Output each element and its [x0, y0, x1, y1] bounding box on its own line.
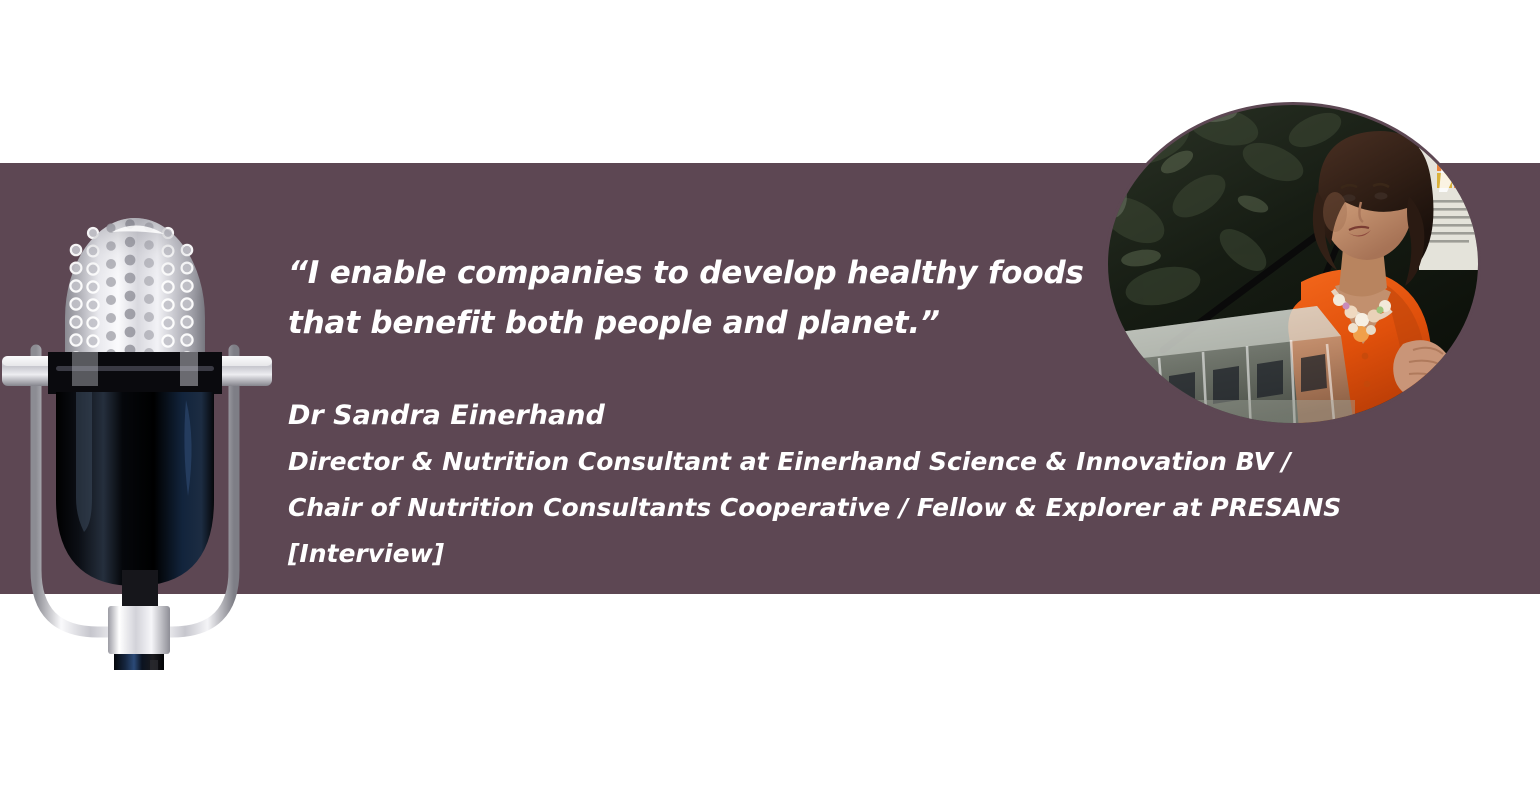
attribution: Dr Sandra Einerhand Director & Nutrition…	[288, 392, 1388, 577]
interview-tag: [Interview]	[288, 531, 1388, 577]
speaker-name: Dr Sandra Einerhand	[288, 392, 1388, 439]
retro-microphone-icon	[0, 100, 290, 670]
speaker-role-line-1: Director & Nutrition Consultant at Einer…	[288, 439, 1388, 485]
banner-text-block: “I enable companies to develop healthy f…	[288, 248, 1388, 577]
quote: “I enable companies to develop healthy f…	[288, 248, 1388, 348]
quote-line-1: “I enable companies to develop healthy f…	[288, 248, 1388, 298]
speaker-role-line-2: Chair of Nutrition Consultants Cooperati…	[288, 485, 1388, 531]
quote-line-2: that benefit both people and planet.”	[288, 298, 1388, 348]
